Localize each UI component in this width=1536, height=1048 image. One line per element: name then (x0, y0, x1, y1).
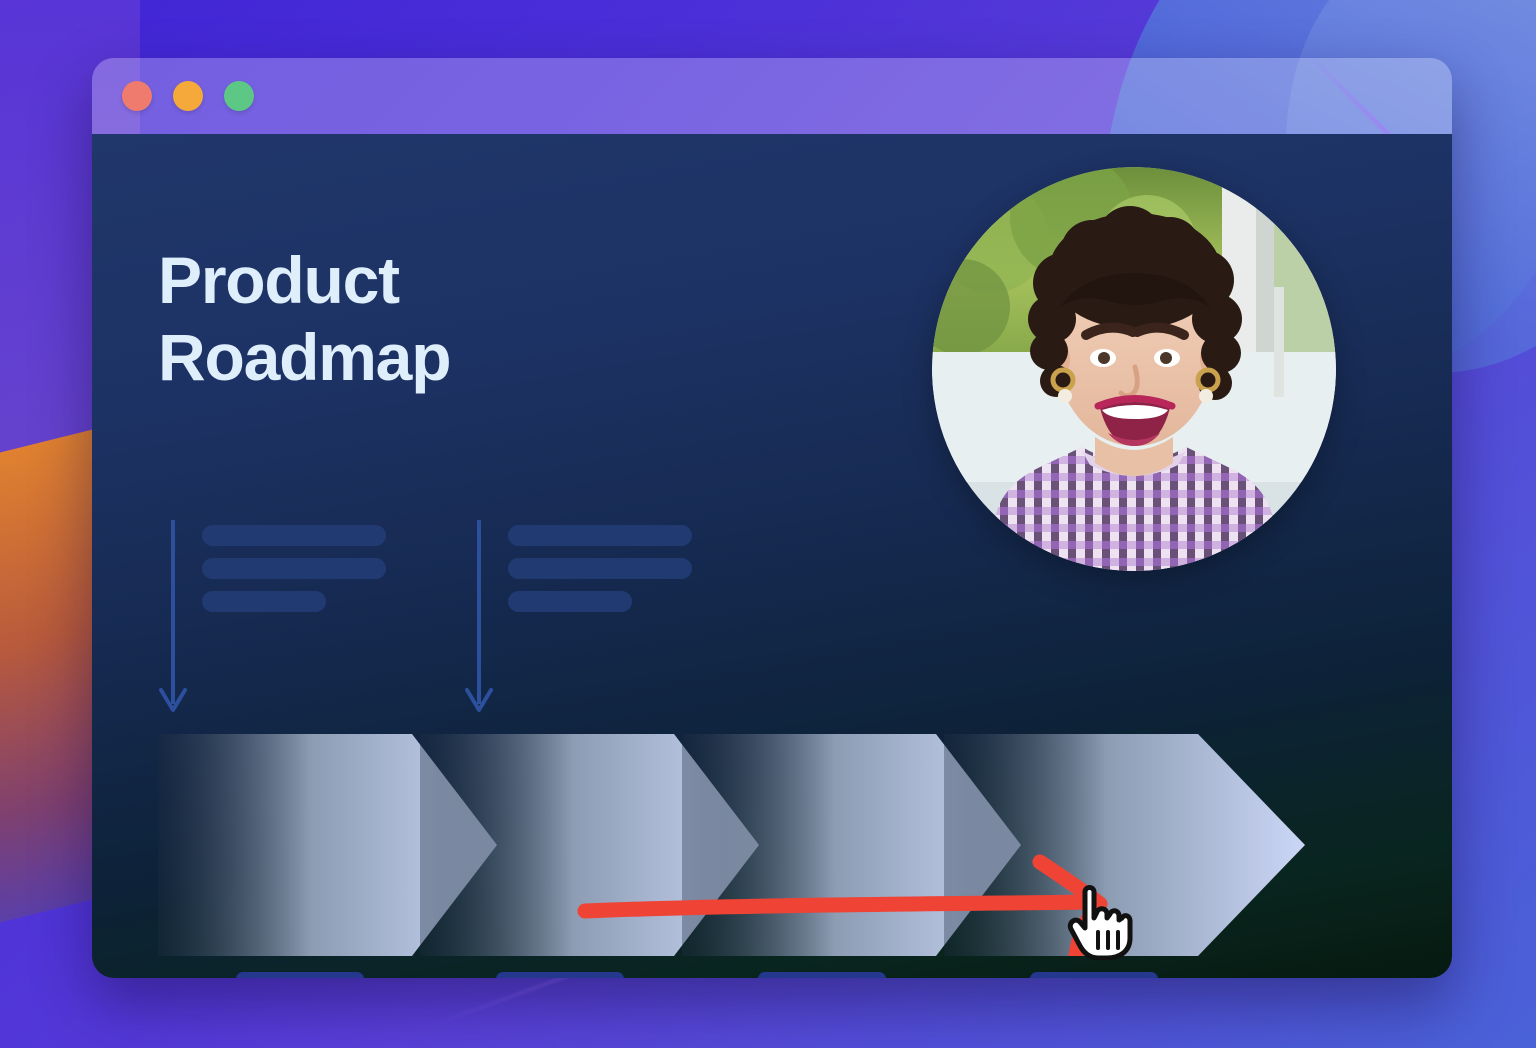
down-arrow-icon (464, 520, 494, 720)
timeline-chevrons (92, 734, 1452, 956)
placeholder-bar (508, 525, 692, 546)
slide-canvas: Product Roadmap (0, 0, 1536, 1048)
zoom-button[interactable] (224, 81, 254, 111)
page-title: Product Roadmap (158, 242, 450, 396)
app-window: Product Roadmap (92, 58, 1452, 978)
timeline-label-q1[interactable]: 2022 Q1 (236, 972, 364, 978)
minimize-button[interactable] (173, 81, 203, 111)
pointing-hand-cursor (1067, 882, 1135, 960)
presenter-photo (932, 167, 1336, 571)
placeholder-bar (508, 558, 692, 579)
placeholder-bar (202, 591, 326, 612)
presenter-avatar[interactable] (932, 167, 1336, 571)
placeholder-bars (202, 525, 386, 624)
timeline-label-q4[interactable]: 2022 Q4 (1030, 972, 1158, 978)
slide-viewport: Product Roadmap (92, 134, 1452, 978)
close-button[interactable] (122, 81, 152, 111)
timeline-label-q3[interactable]: 2022 Q3 (758, 972, 886, 978)
placeholder-bar (202, 525, 386, 546)
timeline-label-q2[interactable]: 2022 Q2 (496, 972, 624, 978)
background-orange-wedge (0, 428, 100, 940)
timeline-labels: 2022 Q1 2022 Q2 2022 Q3 2022 Q4 (92, 972, 1452, 978)
down-arrow-icon (158, 520, 188, 720)
placeholder-bar (508, 591, 632, 612)
window-titlebar (92, 58, 1452, 134)
title-line-1: Product (158, 242, 450, 319)
placeholder-bar (202, 558, 386, 579)
title-line-2: Roadmap (158, 319, 450, 396)
placeholder-bars (508, 525, 692, 624)
